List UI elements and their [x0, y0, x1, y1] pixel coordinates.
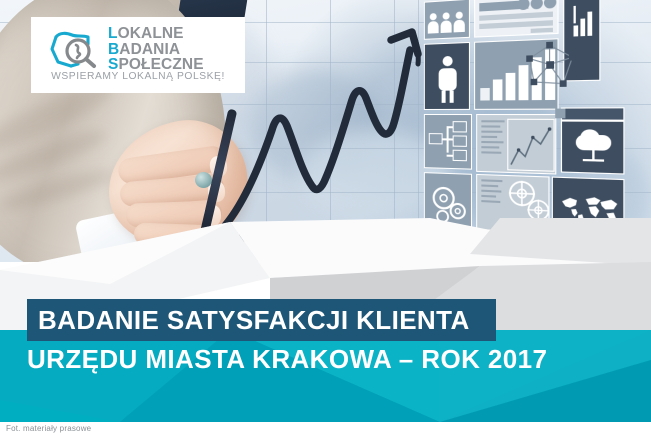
- people-icons-card: [424, 0, 470, 40]
- logo-row: LOKALNE BADANIA SPOŁECZNE: [47, 26, 204, 73]
- cloud-card-header: [561, 107, 625, 120]
- logo-line-lokalne: LOKALNE: [108, 26, 204, 42]
- page-root: Solution: [0, 0, 651, 433]
- logo-line-badania: BADANIA: [108, 42, 204, 58]
- network-diagram: [519, 33, 582, 97]
- poland-outline-magnifier-icon: [47, 28, 99, 70]
- person-icon-card: [424, 42, 470, 110]
- list-circles-card: [474, 0, 559, 38]
- play-badge: [555, 109, 565, 119]
- page-title-line-1: BADANIE SATYSFAKCJI KLIENTA: [38, 303, 508, 337]
- page-title-line-2: URZĘDU MIASTA KRAKOWA – ROK 2017: [27, 340, 637, 378]
- photo-credit-caption: Fot. materiały prasowe: [6, 424, 91, 433]
- dashboard-infographic: Solution: [420, 0, 625, 246]
- logo-box: LOKALNE BADANIA SPOŁECZNE WSPIERAMY LOKA…: [31, 17, 245, 93]
- line-chart-card: [476, 114, 556, 175]
- cloud-icon-card: [561, 121, 625, 175]
- logo-wordmark: LOKALNE BADANIA SPOŁECZNE: [108, 26, 204, 73]
- logo-tagline: WSPIERAMY LOKALNĄ POLSKĘ!: [31, 71, 245, 82]
- devices-network-card: [424, 114, 472, 170]
